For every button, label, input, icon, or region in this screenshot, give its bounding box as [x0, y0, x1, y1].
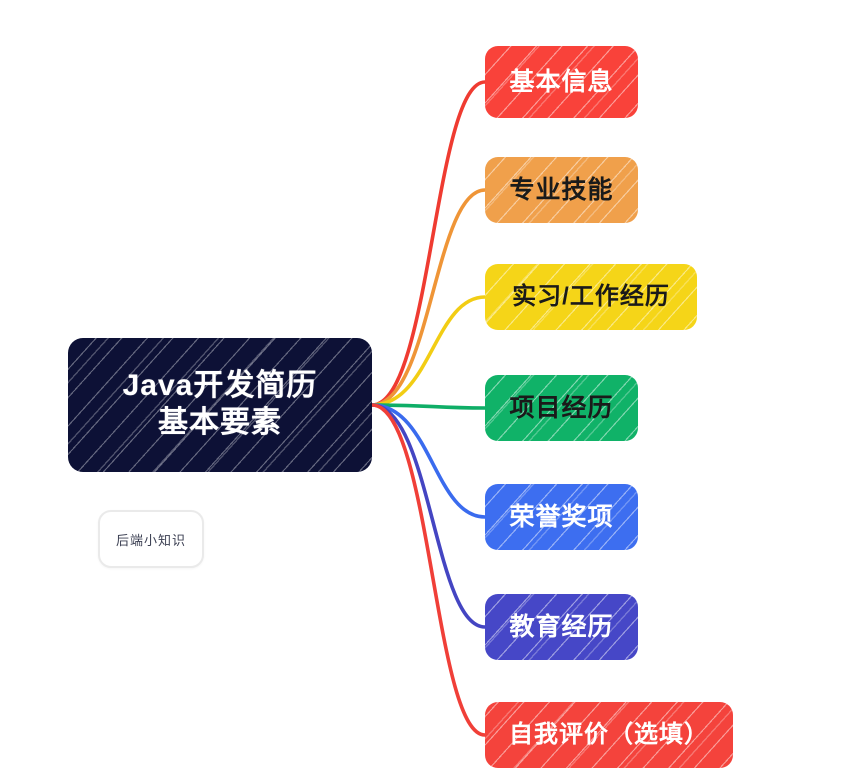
watermark-label: 后端小知识 — [116, 530, 186, 549]
mindmap-node-7[interactable]: 自我评价（选填） — [485, 702, 733, 768]
mindmap-node-label: 教育经历 — [509, 612, 613, 643]
mindmap-node-5[interactable]: 荣誉奖项 — [485, 484, 638, 550]
connector-curve-5 — [372, 405, 485, 517]
connector-curve-6 — [372, 405, 485, 627]
mindmap-node-label: 自我评价（选填） — [509, 720, 709, 749]
watermark-badge: 后端小知识 — [98, 510, 204, 568]
mindmap-node-label: 专业技能 — [509, 175, 613, 206]
mindmap-node-label: 基本信息 — [509, 67, 613, 98]
mindmap-canvas: Java开发简历 基本要素 基本信息专业技能实习/工作经历项目经历荣誉奖项教育经… — [0, 0, 858, 776]
connector-curve-3 — [372, 297, 485, 405]
mindmap-node-4[interactable]: 项目经历 — [485, 375, 638, 441]
mindmap-node-3[interactable]: 实习/工作经历 — [485, 264, 697, 330]
connector-curve-2 — [372, 190, 485, 405]
mindmap-node-label: 实习/工作经历 — [512, 282, 670, 311]
mindmap-node-2[interactable]: 专业技能 — [485, 157, 638, 223]
root-node-label: Java开发简历 基本要素 — [123, 368, 318, 441]
mindmap-root-node[interactable]: Java开发简历 基本要素 — [68, 338, 372, 472]
connector-curve-4 — [372, 405, 485, 408]
connector-curve-1 — [372, 82, 485, 405]
mindmap-node-1[interactable]: 基本信息 — [485, 46, 638, 118]
mindmap-node-label: 项目经历 — [509, 393, 613, 424]
connector-curve-7 — [372, 405, 485, 735]
mindmap-node-label: 荣誉奖项 — [509, 502, 613, 533]
mindmap-node-6[interactable]: 教育经历 — [485, 594, 638, 660]
